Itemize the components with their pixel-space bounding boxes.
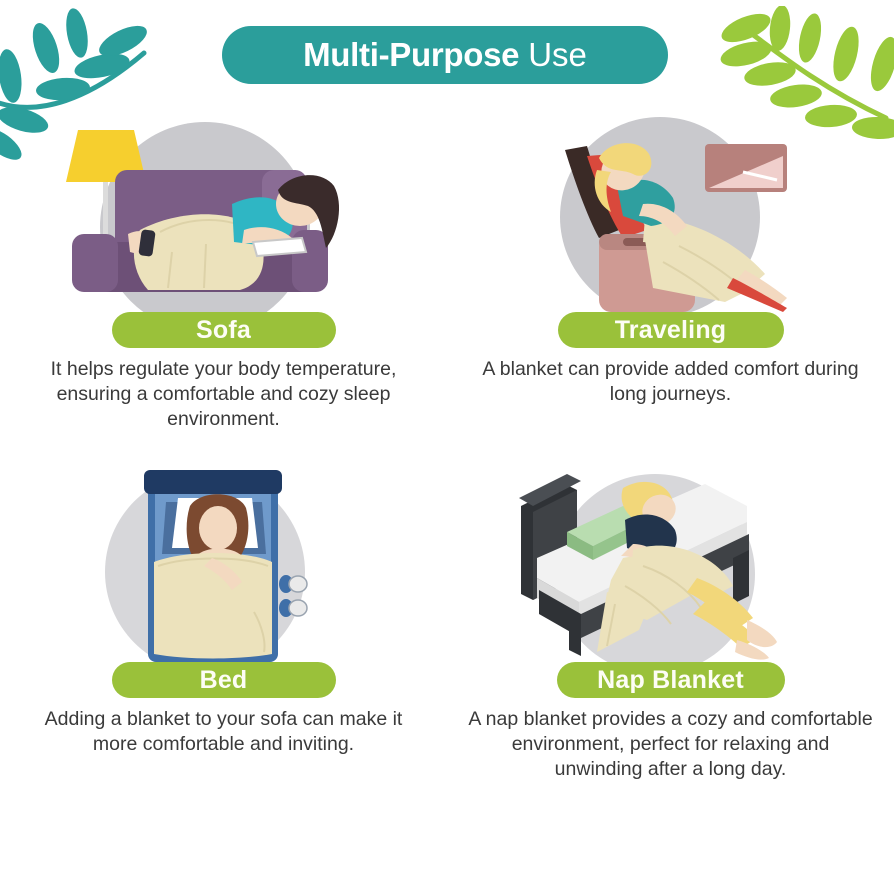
feature-card-traveling: Traveling A blanket can provide added co… [447,112,894,407]
illustration-nap-blanket [447,462,894,662]
card-description-nap-blanket: A nap blanket provides a cozy and comfor… [467,707,875,782]
card-label-sofa: Sofa [112,312,336,348]
illustration-sofa [0,112,447,312]
card-label-text: Nap Blanket [597,666,744,695]
card-label-bed: Bed [112,662,336,698]
card-label-traveling: Traveling [558,312,784,348]
feature-card-nap-blanket: Nap Blanket A nap blanket provides a coz… [447,462,894,782]
feature-card-sofa: Sofa It helps regulate your body tempera… [0,112,447,432]
card-label-nap-blanket: Nap Blanket [557,662,785,698]
page-title-bold: Multi-Purpose [303,36,519,74]
card-label-text: Sofa [196,316,251,345]
feature-card-bed: Bed Adding a blanket to your sofa can ma… [0,462,447,757]
illustration-traveling [447,112,894,312]
card-description-sofa: It helps regulate your body temperature,… [24,357,424,432]
illustration-bed [0,462,447,662]
page-title-light: Use [528,36,587,74]
card-label-text: Traveling [615,316,727,345]
card-description-bed: Adding a blanket to your sofa can make i… [24,707,424,757]
card-description-traveling: A blanket can provide added comfort duri… [471,357,871,407]
card-label-text: Bed [200,666,248,695]
page-title-pill: Multi-Purpose Use [222,26,668,84]
infographic-page: Multi-Purpose Use [0,0,894,894]
